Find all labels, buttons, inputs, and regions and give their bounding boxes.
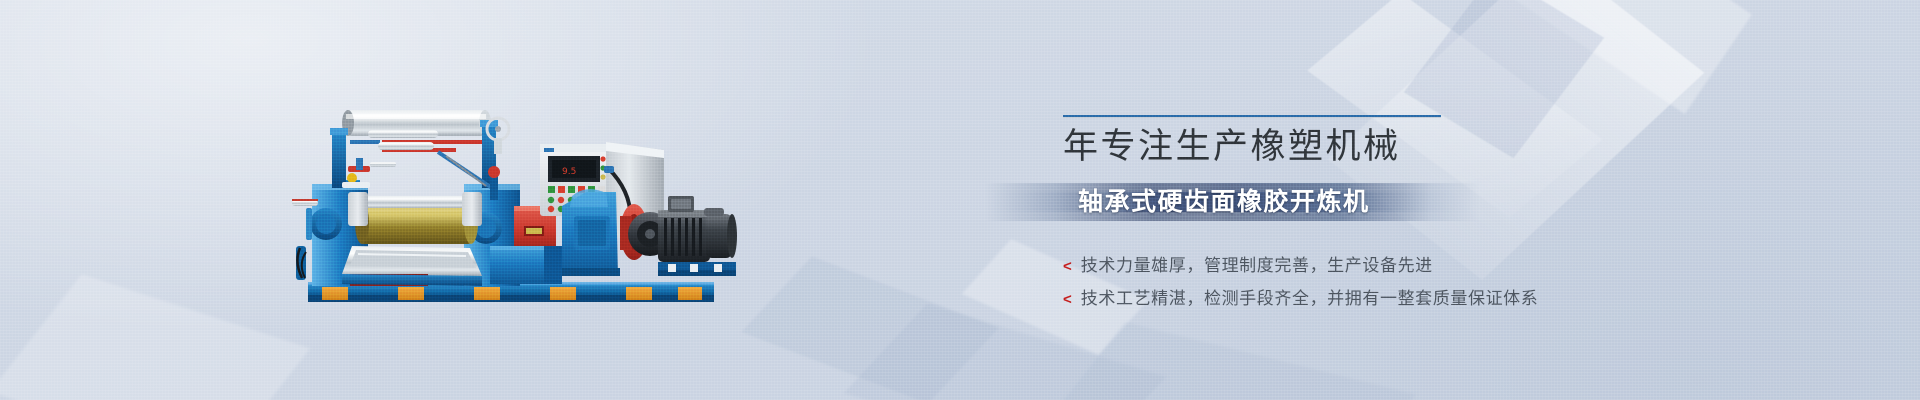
- headline: 年专注生产橡塑机械: [1063, 126, 1763, 168]
- copy-block: 年专注生产橡塑机械 轴承式硬齿面橡胶开炼机 < 技术力量雄厚，管理制度完善，生产…: [0, 0, 1920, 400]
- bullet-text: 技术工艺精湛，检测手段齐全，并拥有一整套质量保证体系: [1081, 288, 1539, 310]
- subtitle: 轴承式硬齿面橡胶开炼机: [1078, 187, 1678, 217]
- bullet-marker-icon: <: [1063, 258, 1072, 275]
- feature-bullet-1: < 技术力量雄厚，管理制度完善，生产设备先进: [1063, 255, 1433, 277]
- bullet-marker-icon: <: [1063, 291, 1072, 308]
- feature-bullet-2: < 技术工艺精湛，检测手段齐全，并拥有一整套质量保证体系: [1063, 288, 1538, 310]
- accent-rule: [1063, 115, 1441, 118]
- promo-banner: 9.5: [0, 0, 1920, 400]
- bullet-text: 技术力量雄厚，管理制度完善，生产设备先进: [1081, 255, 1433, 277]
